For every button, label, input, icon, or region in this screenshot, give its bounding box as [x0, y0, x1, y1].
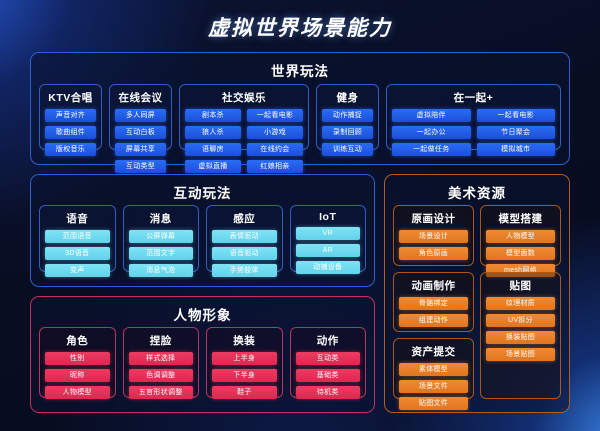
- chip-world-4-1-0[interactable]: 一起看电影: [477, 109, 556, 122]
- chip-world-4-1-1[interactable]: 节日聚会: [477, 126, 556, 139]
- chip-world-2-0-3[interactable]: 虚拟直播: [185, 160, 241, 173]
- chip-art-3-0-0[interactable]: 素体模型: [399, 363, 468, 376]
- section-interactive-gameplay: 互动玩法 语音范围语音3D语音变声消息公屏弹幕范围文字消息气泡感应表情驱动语音驱…: [30, 174, 375, 287]
- chip-columns: 互动类基础类待机类: [296, 352, 361, 399]
- group-art-3: 资产提交素体模型场景文件贴图文件: [393, 338, 474, 399]
- chip-columns: 表情驱动语音驱动手势肢体: [212, 230, 277, 277]
- chip-art-2-0-0[interactable]: 骨骼绑定: [399, 297, 468, 310]
- group-character-0: 角色性别昵称人物模型: [39, 327, 116, 398]
- group-title: 角色: [45, 333, 110, 348]
- group-art-0: 原画设计场景设计角色原画: [393, 205, 474, 266]
- group-interact-3: IoTVRAR动捕设备: [290, 205, 367, 272]
- group-title: 资产提交: [399, 344, 468, 359]
- chip-world-4-0-1[interactable]: 一起办公: [392, 126, 471, 139]
- chip-interact-0-0-2[interactable]: 变声: [45, 264, 110, 277]
- group-world-3: 健身动作捕捉录制回顾训练互动: [316, 84, 379, 150]
- section-title-interactive-gameplay: 互动玩法: [31, 182, 374, 202]
- chip-interact-3-0-1[interactable]: AR: [296, 244, 361, 257]
- section-title-art-resources: 美术资源: [385, 182, 569, 202]
- chip-world-2-1-1[interactable]: 小游戏: [247, 126, 303, 139]
- chip-character-0-0-2[interactable]: 人物模型: [45, 386, 110, 399]
- group-title: 语音: [45, 211, 110, 226]
- group-title: 动作: [296, 333, 361, 348]
- chip-column: 一起看电影节日聚会模拟城市: [477, 109, 556, 156]
- group-character-3: 动作互动类基础类待机类: [290, 327, 367, 398]
- chip-world-2-0-2[interactable]: 语聊房: [185, 143, 241, 156]
- group-title: 贴图: [486, 278, 555, 293]
- chip-art-4-0-2[interactable]: 换装贴图: [486, 331, 555, 344]
- chip-art-0-0-0[interactable]: 场景设计: [399, 230, 468, 243]
- chip-world-2-0-0[interactable]: 剧本杀: [185, 109, 241, 122]
- group-world-1: 在线会议多人同屏互动白板屏幕共享互动类型: [109, 84, 172, 150]
- art-resources-group-list: 原画设计场景设计角色原画模型搭建人物模型模型面数mesh网格动画制作骨骼绑定组建…: [385, 202, 569, 407]
- chip-art-1-0-1[interactable]: 模型面数: [486, 247, 555, 260]
- chip-column: 剧本杀狼人杀语聊房虚拟直播: [185, 109, 241, 173]
- section-art-resources: 美术资源 原画设计场景设计角色原画模型搭建人物模型模型面数mesh网格动画制作骨…: [384, 174, 570, 413]
- chip-interact-2-0-1[interactable]: 语音驱动: [212, 247, 277, 260]
- chip-columns: 样式选择色调调整五官形状调整: [129, 352, 194, 399]
- chip-art-4-0-0[interactable]: 纹理材质: [486, 297, 555, 310]
- group-title: 健身: [322, 90, 373, 105]
- section-title-world-gameplay: 世界玩法: [31, 60, 569, 80]
- group-world-2: 社交娱乐剧本杀狼人杀语聊房虚拟直播一起看电影小游戏在线约会红娘相亲: [179, 84, 309, 150]
- chip-interact-3-0-2[interactable]: 动捕设备: [296, 261, 361, 274]
- chip-columns: VRAR动捕设备: [296, 227, 361, 274]
- group-character-2: 换装上半身下半身鞋子: [206, 327, 283, 398]
- infographic-canvas: 虚拟世界场景能力 世界玩法 KTV合唱声音对齐歌曲组件版权音乐在线会议多人同屏互…: [0, 0, 600, 431]
- section-character-image: 人物形象 角色性别昵称人物模型捏脸样式选择色调调整五官形状调整换装上半身下半身鞋…: [30, 296, 375, 413]
- chip-interact-1-0-2[interactable]: 消息气泡: [129, 264, 194, 277]
- group-title: IoT: [296, 211, 361, 223]
- chip-character-3-0-0[interactable]: 互动类: [296, 352, 361, 365]
- chip-columns: 人物模型模型面数mesh网格: [486, 230, 555, 277]
- section-title-character-image: 人物形象: [31, 304, 374, 324]
- group-title: 原画设计: [399, 211, 468, 226]
- chip-world-1-0-3[interactable]: 互动类型: [115, 160, 166, 173]
- group-art-2: 动画制作骨骼绑定组建动作: [393, 272, 474, 333]
- world-gameplay-group-list: KTV合唱声音对齐歌曲组件版权音乐在线会议多人同屏互动白板屏幕共享互动类型社交娱…: [31, 80, 569, 158]
- chip-columns: 剧本杀狼人杀语聊房虚拟直播一起看电影小游戏在线约会红娘相亲: [185, 109, 303, 173]
- chip-character-2-0-1[interactable]: 下半身: [212, 369, 277, 382]
- group-title: 社交娱乐: [185, 90, 303, 105]
- chip-world-3-0-2[interactable]: 训练互动: [322, 143, 373, 156]
- chip-world-3-0-1[interactable]: 录制回顾: [322, 126, 373, 139]
- chip-world-0-0-1[interactable]: 歌曲组件: [45, 126, 96, 139]
- page-title: 虚拟世界场景能力: [0, 0, 600, 42]
- chip-interact-1-0-1[interactable]: 范围文字: [129, 247, 194, 260]
- group-title: 消息: [129, 211, 194, 226]
- chip-character-0-0-0[interactable]: 性别: [45, 352, 110, 365]
- chip-character-1-0-1[interactable]: 色调调整: [129, 369, 194, 382]
- chip-interact-2-0-0[interactable]: 表情驱动: [212, 230, 277, 243]
- group-interact-2: 感应表情驱动语音驱动手势肢体: [206, 205, 283, 272]
- chip-columns: 范围语音3D语音变声: [45, 230, 110, 277]
- chip-character-3-0-2[interactable]: 待机类: [296, 386, 361, 399]
- chip-world-2-1-0[interactable]: 一起看电影: [247, 109, 303, 122]
- chip-character-2-0-2[interactable]: 鞋子: [212, 386, 277, 399]
- group-world-4: 在一起+虚拟陪伴一起办公一起做任务一起看电影节日聚会模拟城市: [386, 84, 561, 150]
- chip-character-3-0-1[interactable]: 基础类: [296, 369, 361, 382]
- chip-art-4-0-3[interactable]: 场景贴图: [486, 348, 555, 361]
- group-art-1: 模型搭建人物模型模型面数mesh网格: [480, 205, 561, 266]
- chip-character-0-0-1[interactable]: 昵称: [45, 369, 110, 382]
- chip-columns: 公屏弹幕范围文字消息气泡: [129, 230, 194, 277]
- group-world-0: KTV合唱声音对齐歌曲组件版权音乐: [39, 84, 102, 150]
- chip-character-1-0-2[interactable]: 五官形状调整: [129, 386, 194, 399]
- chip-art-4-0-1[interactable]: UV拆分: [486, 314, 555, 327]
- chip-world-2-0-1[interactable]: 狼人杀: [185, 126, 241, 139]
- chip-world-4-0-0[interactable]: 虚拟陪伴: [392, 109, 471, 122]
- chip-world-4-1-2[interactable]: 模拟城市: [477, 143, 556, 156]
- chip-column: 一起看电影小游戏在线约会红娘相亲: [247, 109, 303, 173]
- group-interact-1: 消息公屏弹幕范围文字消息气泡: [123, 205, 200, 272]
- group-title: 换装: [212, 333, 277, 348]
- chip-columns: 骨骼绑定组建动作: [399, 297, 468, 327]
- chip-world-2-1-2[interactable]: 在线约会: [247, 143, 303, 156]
- chip-columns: 素体模型场景文件贴图文件: [399, 363, 468, 410]
- group-title: 在线会议: [115, 90, 166, 105]
- chip-interact-2-0-2[interactable]: 手势肢体: [212, 264, 277, 277]
- chip-world-3-0-0[interactable]: 动作捕捉: [322, 109, 373, 122]
- chip-columns: 上半身下半身鞋子: [212, 352, 277, 399]
- chip-columns: 多人同屏互动白板屏幕共享互动类型: [115, 109, 166, 173]
- chip-art-0-0-1[interactable]: 角色原画: [399, 247, 468, 260]
- chip-character-2-0-0[interactable]: 上半身: [212, 352, 277, 365]
- chip-world-2-1-3[interactable]: 红娘相亲: [247, 160, 303, 173]
- group-title: 在一起+: [392, 90, 555, 105]
- chip-columns: 声音对齐歌曲组件版权音乐: [45, 109, 96, 156]
- chip-art-3-0-2[interactable]: 贴图文件: [399, 397, 468, 410]
- chip-character-1-0-0[interactable]: 样式选择: [129, 352, 194, 365]
- chip-world-1-0-2[interactable]: 屏幕共享: [115, 143, 166, 156]
- chip-interact-0-0-1[interactable]: 3D语音: [45, 247, 110, 260]
- chip-interact-0-0-0[interactable]: 范围语音: [45, 230, 110, 243]
- chip-columns: 场景设计角色原画: [399, 230, 468, 260]
- chip-interact-3-0-0[interactable]: VR: [296, 227, 361, 240]
- character-image-group-list: 角色性别昵称人物模型捏脸样式选择色调调整五官形状调整换装上半身下半身鞋子动作互动…: [31, 324, 374, 406]
- group-art-4: 贴图纹理材质UV拆分换装贴图场景贴图: [480, 272, 561, 399]
- chip-world-0-0-2[interactable]: 版权音乐: [45, 143, 96, 156]
- chip-world-0-0-0[interactable]: 声音对齐: [45, 109, 96, 122]
- group-character-1: 捏脸样式选择色调调整五官形状调整: [123, 327, 200, 398]
- group-title: 感应: [212, 211, 277, 226]
- chip-columns: 性别昵称人物模型: [45, 352, 110, 399]
- group-title: 动画制作: [399, 278, 468, 293]
- chip-columns: 虚拟陪伴一起办公一起做任务一起看电影节日聚会模拟城市: [392, 109, 555, 156]
- group-title: 模型搭建: [486, 211, 555, 226]
- chip-world-1-0-1[interactable]: 互动白板: [115, 126, 166, 139]
- chip-world-1-0-0[interactable]: 多人同屏: [115, 109, 166, 122]
- chip-art-3-0-1[interactable]: 场景文件: [399, 380, 468, 393]
- group-title: KTV合唱: [45, 90, 96, 105]
- chip-world-4-0-2[interactable]: 一起做任务: [392, 143, 471, 156]
- chip-art-1-0-0[interactable]: 人物模型: [486, 230, 555, 243]
- chip-column: 虚拟陪伴一起办公一起做任务: [392, 109, 471, 156]
- chip-interact-1-0-0[interactable]: 公屏弹幕: [129, 230, 194, 243]
- group-title: 捏脸: [129, 333, 194, 348]
- group-interact-0: 语音范围语音3D语音变声: [39, 205, 116, 272]
- chip-columns: 纹理材质UV拆分换装贴图场景贴图: [486, 297, 555, 393]
- chip-art-2-0-1[interactable]: 组建动作: [399, 314, 468, 327]
- section-world-gameplay: 世界玩法 KTV合唱声音对齐歌曲组件版权音乐在线会议多人同屏互动白板屏幕共享互动…: [30, 52, 570, 165]
- chip-columns: 动作捕捉录制回顾训练互动: [322, 109, 373, 156]
- interactive-gameplay-group-list: 语音范围语音3D语音变声消息公屏弹幕范围文字消息气泡感应表情驱动语音驱动手势肢体…: [31, 202, 374, 280]
